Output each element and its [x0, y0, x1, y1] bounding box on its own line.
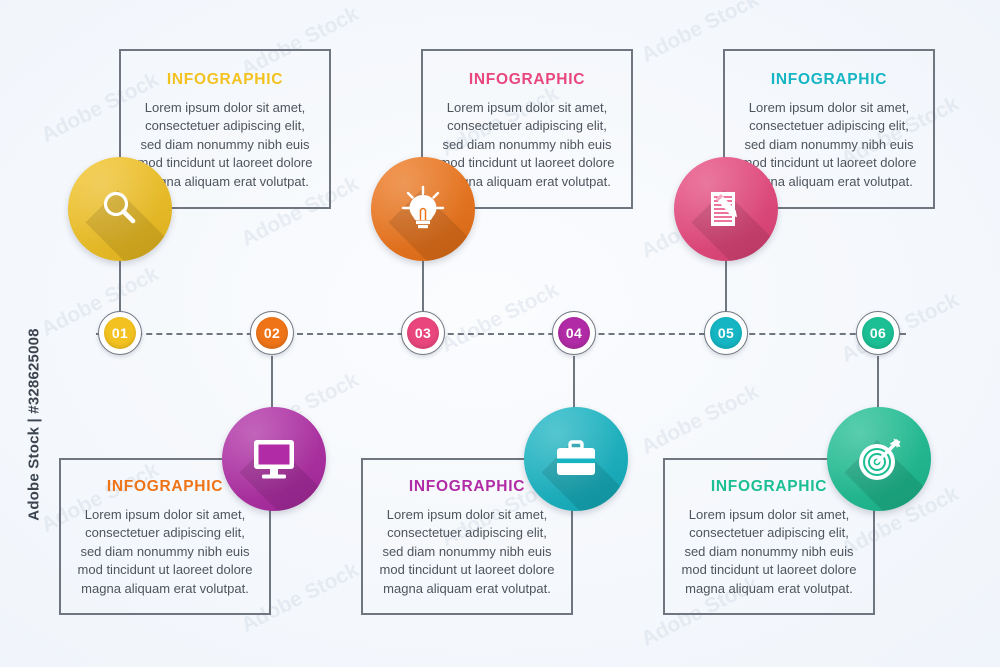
card-body-04: Lorem ipsum dolor sit amet, consectetuer… [379, 506, 555, 598]
timeline-marker-06[interactable]: 06 [856, 311, 900, 355]
watermark-tile: Adobe Stock [438, 278, 563, 358]
connector-stem-02 [271, 356, 273, 410]
card-body-06: Lorem ipsum dolor sit amet, consectetuer… [681, 506, 857, 598]
marker-number-03: 03 [415, 325, 431, 341]
marker-number-02: 02 [264, 325, 280, 341]
timeline-marker-05[interactable]: 05 [704, 311, 748, 355]
marker-disc-02: 02 [256, 317, 288, 349]
icon-circle-05[interactable] [524, 407, 628, 511]
marker-disc-03: 03 [407, 317, 439, 349]
card-title-01: INFOGRAPHIC [137, 71, 313, 89]
timeline-marker-01[interactable]: 01 [98, 311, 142, 355]
marker-disc-04: 04 [558, 317, 590, 349]
stock-id-watermark: Adobe Stock | #328625008 [26, 325, 43, 525]
marker-disc-06: 06 [862, 317, 894, 349]
card-title-06: INFOGRAPHIC [681, 478, 857, 496]
icon-circle-06[interactable] [827, 407, 931, 511]
marker-number-01: 01 [112, 325, 128, 341]
connector-stem-06 [877, 356, 879, 410]
timeline-marker-04[interactable]: 04 [552, 311, 596, 355]
marker-number-06: 06 [870, 325, 886, 341]
timeline-marker-02[interactable]: 02 [250, 311, 294, 355]
timeline-marker-03[interactable]: 03 [401, 311, 445, 355]
magnifier-icon [98, 187, 142, 231]
card-title-03: INFOGRAPHIC [439, 71, 615, 89]
icon-circle-02[interactable] [371, 157, 475, 261]
icon-circle-04[interactable] [222, 407, 326, 511]
marker-number-05: 05 [718, 325, 734, 341]
infographic-canvas: Adobe Stock Adobe Stock Adobe Stock Adob… [0, 0, 1000, 667]
card-title-05: INFOGRAPHIC [741, 71, 917, 89]
target-arrow-icon [854, 435, 904, 483]
document-pencil-icon [703, 186, 749, 232]
connector-stem-04 [573, 356, 575, 410]
card-body-01: Lorem ipsum dolor sit amet, consectetuer… [137, 99, 313, 191]
icon-circle-01[interactable] [68, 157, 172, 261]
lightbulb-icon [398, 184, 448, 234]
briefcase-icon [552, 437, 600, 481]
card-body-02: Lorem ipsum dolor sit amet, consectetuer… [77, 506, 253, 598]
marker-disc-05: 05 [710, 317, 742, 349]
marker-number-04: 04 [566, 325, 582, 341]
connector-stem-05 [725, 258, 727, 312]
icon-circle-03[interactable] [674, 157, 778, 261]
monitor-icon [249, 437, 299, 481]
card-body-03: Lorem ipsum dolor sit amet, consectetuer… [439, 99, 615, 191]
marker-disc-01: 01 [104, 317, 136, 349]
connector-stem-03 [422, 258, 424, 312]
timeline-dashed-line [96, 333, 906, 335]
connector-stem-01 [119, 258, 121, 312]
watermark-tile: Adobe Stock [638, 380, 763, 460]
